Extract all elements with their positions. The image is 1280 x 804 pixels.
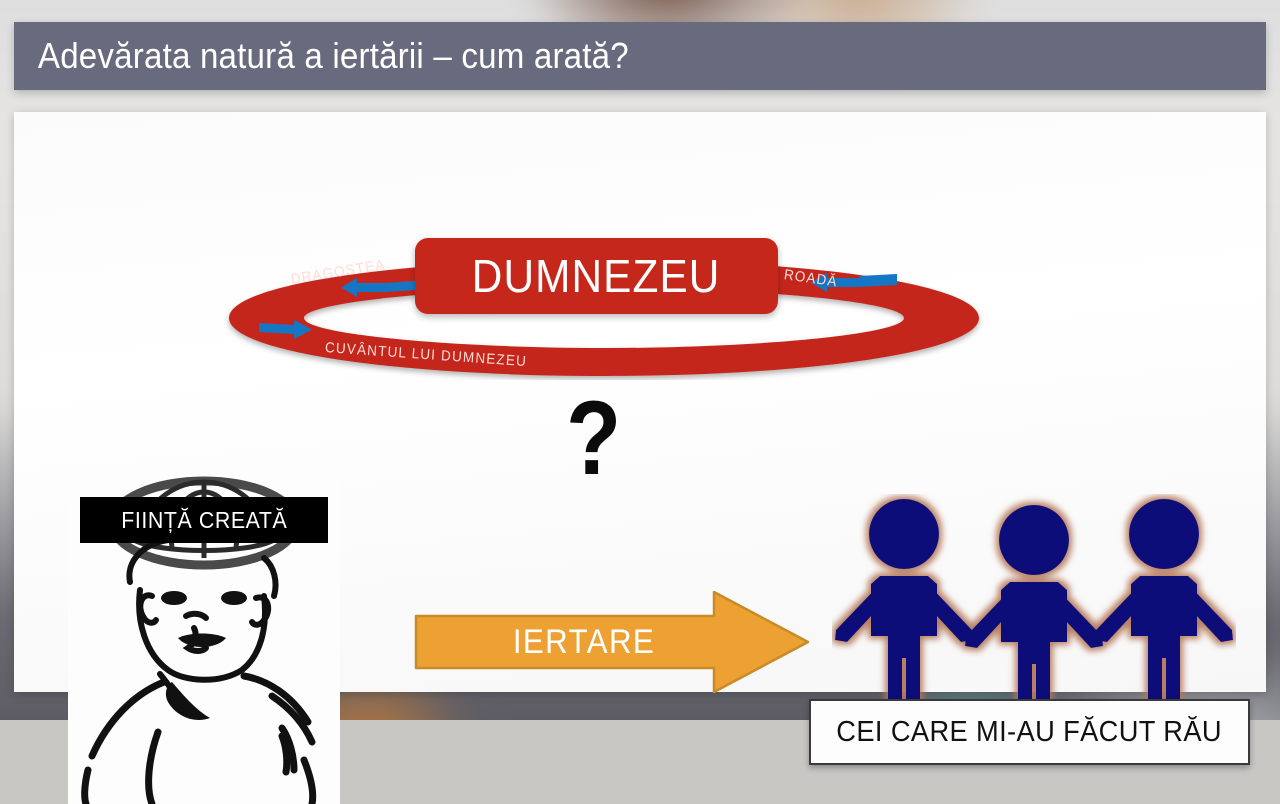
stick-figure xyxy=(835,499,973,710)
created-being-label: FIINȚĂ CREATĂ xyxy=(121,507,287,534)
created-being-banner: FIINȚĂ CREATĂ xyxy=(80,497,328,543)
offenders-caption-box: CEI CARE MI-AU FĂCUT RĂU xyxy=(809,699,1250,765)
offenders-figures xyxy=(832,494,1236,724)
question-mark: ? xyxy=(566,386,621,491)
iertare-label-wrap: IERTARE xyxy=(428,590,741,694)
dumnezeu-box: DUMNEZEU xyxy=(415,238,778,314)
slide-canvas: DUMNEZEU DRAGOSTEA ROADĂ CUVÂNTUL LUI DU… xyxy=(14,112,1266,692)
created-being-image: FIINȚĂ CREATĂ xyxy=(68,470,340,804)
stick-figures-graphic xyxy=(832,494,1236,724)
slide-title-bar: Adevărata natură a iertării – cum arată? xyxy=(14,22,1266,90)
page-title: Adevărata natură a iertării – cum arată? xyxy=(14,35,629,77)
dumnezeu-label: DUMNEZEU xyxy=(472,249,721,303)
stick-figure xyxy=(1095,499,1233,710)
iertare-arrow: IERTARE xyxy=(414,590,812,694)
stick-figure-group xyxy=(835,499,1233,716)
stick-figure xyxy=(965,505,1103,716)
iertare-label: IERTARE xyxy=(513,623,655,662)
offenders-caption-label: CEI CARE MI-AU FĂCUT RĂU xyxy=(837,716,1223,749)
god-ring-diagram: DUMNEZEU DRAGOSTEA ROADĂ CUVÂNTUL LUI DU… xyxy=(219,230,989,380)
